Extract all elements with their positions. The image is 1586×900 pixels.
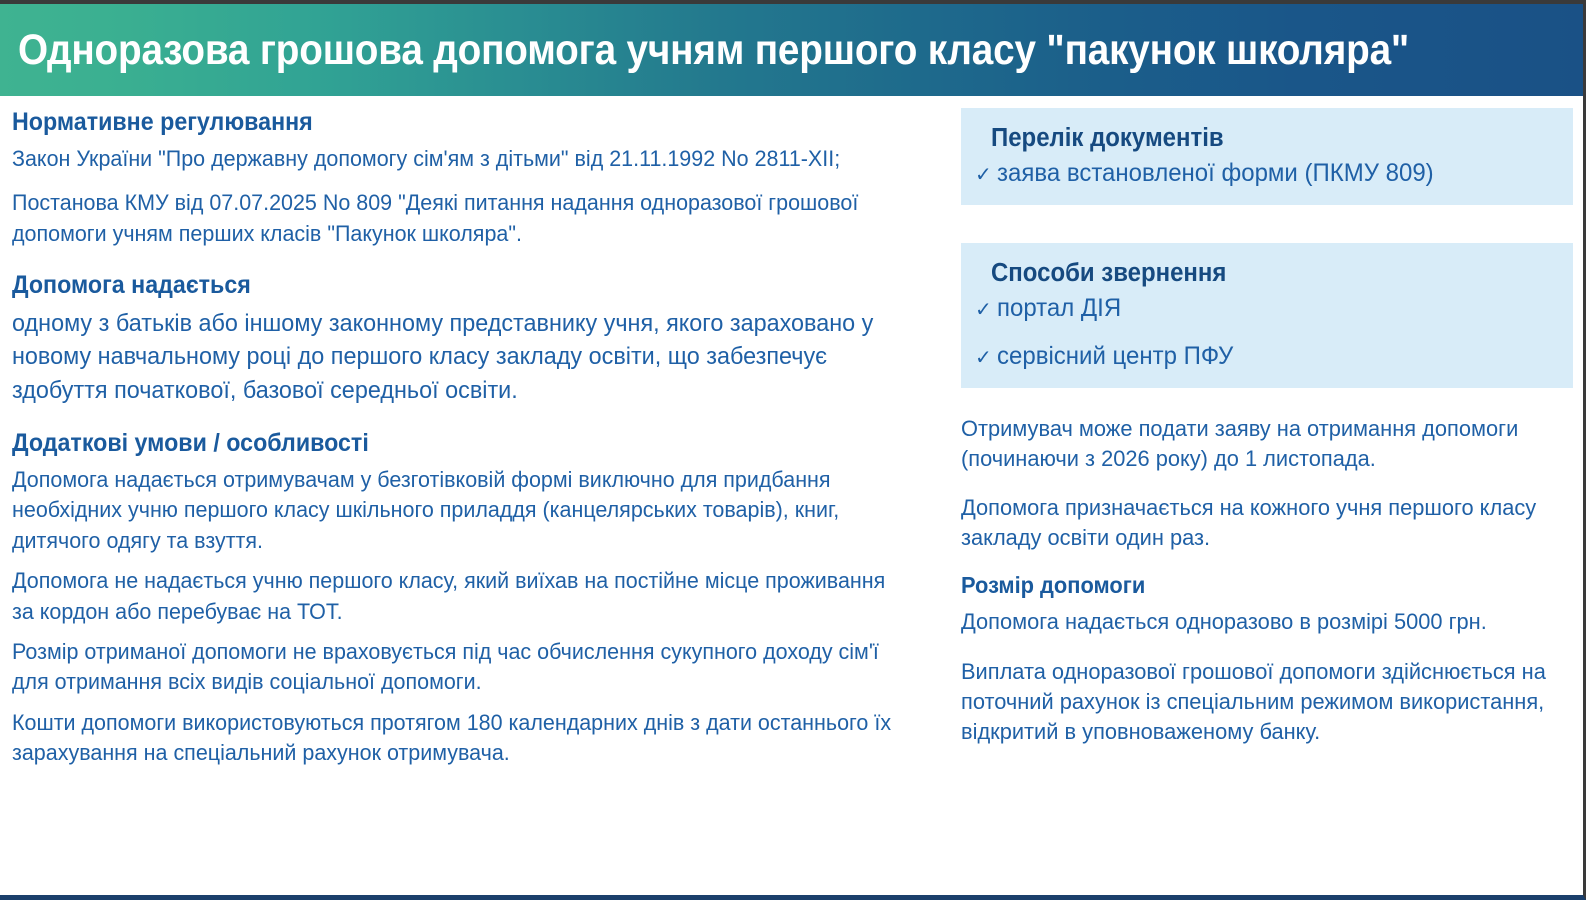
right-notes-block: Отримувач може подати заяву на отримання…	[961, 414, 1575, 747]
paragraph-once-per-pupil: Допомога призначається на кожного учня п…	[961, 493, 1557, 553]
list-item: ✓ портал ДІЯ	[975, 293, 1555, 324]
panel-documents-title: Перелік документів	[991, 124, 1521, 152]
list-item: ✓ заява встановленої форми (ПКМУ 809)	[975, 158, 1555, 189]
heading-assistance-amount: Розмір допомоги	[961, 573, 1544, 599]
paragraph-not-counted-income: Розмір отриманої допомоги не враховуєтьс…	[12, 637, 900, 698]
check-icon: ✓	[975, 165, 997, 185]
list-item-label: портал ДІЯ	[997, 293, 1121, 324]
heading-assistance-granted: Допомога надається	[12, 271, 877, 299]
spacer	[945, 205, 1573, 243]
list-item-label: сервісний центр ПФУ	[997, 341, 1233, 372]
page-header-banner: Одноразова грошова допомога учням першог…	[0, 4, 1586, 96]
page-title: Одноразова грошова допомога учням першог…	[0, 29, 1409, 72]
left-column: Нормативне регулювання Закон України "Пр…	[12, 108, 942, 778]
paragraph-180-days: Кошти допомоги використовуються протягом…	[12, 708, 900, 769]
list-item-label: заява встановленої форми (ПКМУ 809)	[997, 158, 1434, 189]
right-column: Перелік документів ✓ заява встановленої …	[945, 108, 1573, 747]
heading-normative-regulation: Нормативне регулювання	[12, 108, 877, 136]
infographic-page: Одноразова грошова допомога учням першог…	[0, 0, 1586, 900]
spacer	[945, 388, 1573, 414]
list-item: ✓ сервісний центр ПФУ	[975, 341, 1555, 372]
heading-additional-conditions: Додаткові умови / особливості	[12, 429, 877, 457]
check-icon: ✓	[975, 348, 997, 368]
panel-documents: Перелік документів ✓ заява встановленої …	[961, 108, 1573, 205]
paragraph-assistance-recipient: одному з батьків або іншому законному пр…	[12, 307, 900, 407]
paragraph-special-bank-account: Виплата одноразової грошової допомоги зд…	[961, 657, 1557, 747]
check-icon: ✓	[975, 300, 997, 320]
paragraph-resolution-809: Постанова КМУ від 07.07.2025 No 809 "Дея…	[12, 188, 900, 249]
paragraph-cashless-purchase: Допомога надається отримувачам у безготі…	[12, 465, 900, 556]
panel-application-channels: Способи звернення ✓ портал ДІЯ ✓ сервісн…	[961, 243, 1573, 388]
panel-channels-title: Способи звернення	[991, 259, 1521, 287]
paragraph-amount-5000: Допомога надається одноразово в розмірі …	[961, 607, 1557, 637]
paragraph-deadline-1-november: Отримувач може подати заяву на отримання…	[961, 414, 1557, 474]
paragraph-not-granted-abroad: Допомога не надається учню першого класу…	[12, 566, 900, 627]
paragraph-law-2811: Закон України "Про державну допомогу сім…	[12, 144, 900, 174]
